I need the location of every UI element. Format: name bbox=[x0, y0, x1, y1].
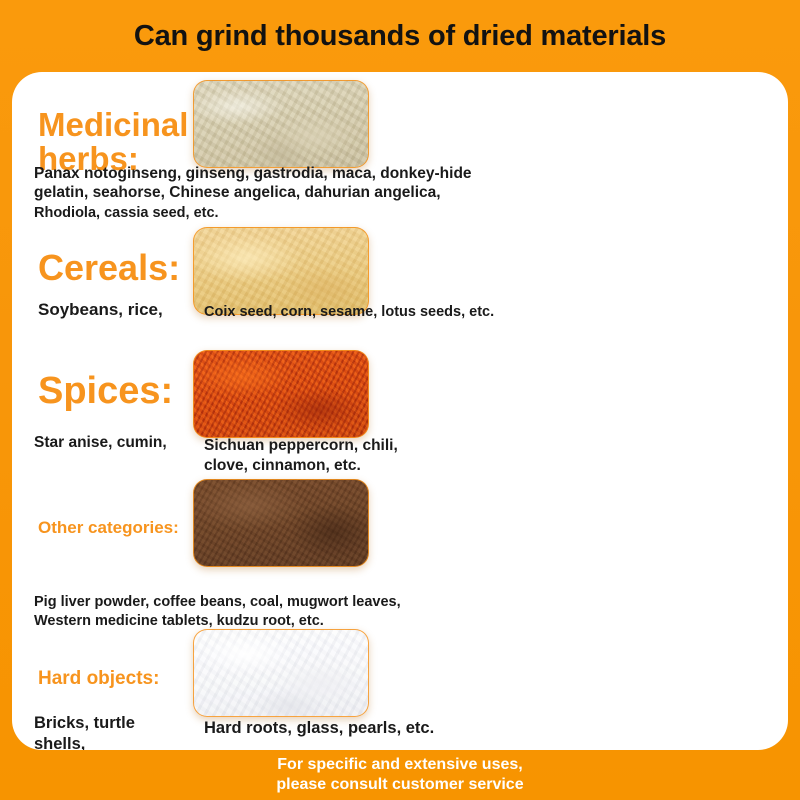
category-row-hard-objects: Hard objects: Bricks, turtle shells, Har… bbox=[12, 627, 788, 750]
category-desc-hard-objects-main: Bricks, turtle shells, bbox=[34, 713, 135, 750]
category-row-spices: Spices: Star anise, cumin, Sichuan peppe… bbox=[12, 342, 788, 477]
category-desc-hard-objects-secondary: Hard roots, glass, pearls, etc. bbox=[204, 719, 434, 738]
category-label-spices: Spices: bbox=[38, 372, 173, 411]
category-desc-cereals-secondary: Coix seed, corn, sesame, lotus seeds, et… bbox=[204, 304, 494, 320]
medicinal-herb-powder-photo bbox=[193, 80, 369, 168]
poster-root: Can grind thousands of dried materials M… bbox=[0, 0, 800, 800]
category-desc-medicinal-herbs-secondary: Rhodiola, cassia seed, etc. bbox=[34, 204, 219, 222]
coffee-powder-photo bbox=[193, 479, 369, 567]
category-row-cereals: Cereals: Soybeans, rice, Coix seed, corn… bbox=[12, 222, 788, 342]
content-card: Medicinal herbs: Panax notoginseng, gins… bbox=[12, 72, 788, 750]
category-desc-spices-main: Star anise, cumin, bbox=[34, 434, 167, 452]
category-desc-other-main: Pig liver powder, coffee beans, coal, mu… bbox=[34, 593, 401, 631]
category-row-medicinal-herbs: Medicinal herbs: Panax notoginseng, gins… bbox=[12, 72, 788, 222]
footer-note: For specific and extensive uses, please … bbox=[276, 755, 523, 795]
category-list: Medicinal herbs: Panax notoginseng, gins… bbox=[12, 72, 788, 750]
chili-spice-powder-photo bbox=[193, 350, 369, 438]
category-label-hard-objects: Hard objects: bbox=[38, 669, 159, 688]
page-title: Can grind thousands of dried materials bbox=[134, 20, 666, 53]
category-row-other: Other categories: Pig liver powder, coff… bbox=[12, 477, 788, 627]
category-desc-medicinal-herbs-main: Panax notoginseng, ginseng, gastrodia, m… bbox=[34, 164, 634, 203]
category-label-other: Other categories: bbox=[38, 519, 179, 536]
cereal-powder-photo bbox=[193, 227, 369, 315]
poster-header: Can grind thousands of dried materials bbox=[0, 0, 800, 72]
white-hard-powder-photo bbox=[193, 629, 369, 717]
category-desc-spices-secondary: Sichuan peppercorn, chili, clove, cinnam… bbox=[204, 436, 398, 476]
poster-footer: For specific and extensive uses, please … bbox=[0, 750, 800, 800]
category-desc-cereals-main: Soybeans, rice, bbox=[38, 300, 163, 320]
category-label-cereals: Cereals: bbox=[38, 250, 180, 287]
